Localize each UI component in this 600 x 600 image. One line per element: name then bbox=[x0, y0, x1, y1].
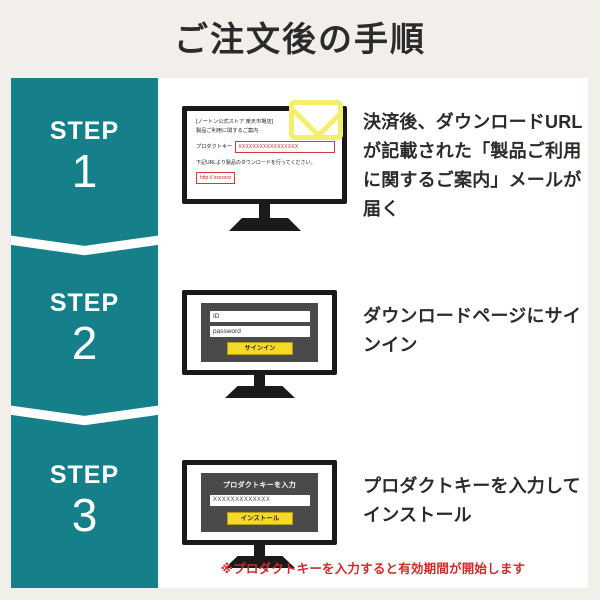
step-row-3: プロダクトキーを入力 XXXXXXXXXXXXX インストール プロダクトキーを… bbox=[158, 452, 588, 572]
chevron-shape bbox=[11, 405, 158, 431]
chevron-shape bbox=[11, 235, 158, 261]
monitor-stand-base bbox=[225, 386, 295, 398]
step-divider-chevron-2 bbox=[11, 405, 158, 431]
step-label-2: STEP 2 bbox=[11, 288, 158, 368]
monitor-illustration-2: ID password サインイン bbox=[182, 290, 337, 398]
product-key-label: プロダクトキー bbox=[196, 143, 232, 151]
step-description-1: 決済後、ダウンロードURLが記載された「製品ご利用に関するご案内」メールが届く bbox=[363, 108, 588, 224]
product-key-value: XXXXXXXXXXXXXXXXX bbox=[235, 141, 335, 153]
monitor-illustration-3: プロダクトキーを入力 XXXXXXXXXXXXX インストール bbox=[182, 460, 337, 568]
step-number-2: 2 bbox=[11, 318, 158, 368]
step-word-2: STEP bbox=[11, 288, 158, 318]
monitor-stand-neck bbox=[259, 204, 270, 218]
product-key-input[interactable]: XXXXXXXXXXXXX bbox=[210, 495, 310, 506]
envelope-icon bbox=[289, 100, 343, 140]
monitor-screen-3: プロダクトキーを入力 XXXXXXXXXXXXX インストール bbox=[182, 460, 337, 545]
step-row-1: [ノートン公式ストア 楽天市場店] 製品ご利用に関するご案内 プロダクトキー X… bbox=[158, 92, 588, 252]
email-download-url: http:// xxxxxxx bbox=[196, 172, 235, 184]
envelope-flap-shape bbox=[291, 100, 343, 139]
email-download-note: 下記URLより製品のダウンロードを行ってください。 bbox=[196, 159, 335, 167]
monitor-screen-2: ID password サインイン bbox=[182, 290, 337, 375]
email-product-key-row: プロダクトキー XXXXXXXXXXXXXXXXX bbox=[196, 141, 335, 153]
step-label-3: STEP 3 bbox=[11, 460, 158, 540]
monitor-stand-neck bbox=[254, 375, 265, 386]
monitor-illustration-1: [ノートン公式ストア 楽天市場店] 製品ご利用に関するご案内 プロダクトキー X… bbox=[182, 106, 347, 231]
step-row-2: ID password サインイン ダウンロードページにサインイン bbox=[158, 282, 588, 402]
step-number-1: 1 bbox=[11, 146, 158, 196]
footer-warning-note: ※プロダクトキーを入力すると有効期間が開始します bbox=[158, 558, 588, 577]
install-button[interactable]: インストール bbox=[227, 512, 293, 525]
step-word-3: STEP bbox=[11, 460, 158, 490]
step-word-1: STEP bbox=[11, 116, 158, 146]
page-title: ご注文後の手順 bbox=[0, 10, 600, 70]
signin-form: ID password サインイン bbox=[201, 303, 318, 362]
monitor-stand-neck bbox=[254, 545, 265, 556]
signin-button[interactable]: サインイン bbox=[227, 342, 293, 355]
infographic-page: ご注文後の手順 STEP 1 STEP 2 STEP 3 [ノートン公式ストア … bbox=[0, 0, 600, 600]
product-key-form: プロダクトキーを入力 XXXXXXXXXXXXX インストール bbox=[201, 473, 318, 532]
step-divider-chevron-1 bbox=[11, 235, 158, 261]
password-field[interactable]: password bbox=[210, 326, 310, 337]
step-description-2: ダウンロードページにサインイン bbox=[363, 302, 588, 360]
monitor-stand-base bbox=[229, 218, 301, 231]
id-field[interactable]: ID bbox=[210, 311, 310, 322]
step-description-3: プロダクトキーを入力してインストール bbox=[363, 472, 588, 530]
step-number-3: 3 bbox=[11, 490, 158, 540]
product-key-form-label: プロダクトキーを入力 bbox=[201, 480, 318, 490]
step-label-1: STEP 1 bbox=[11, 116, 158, 196]
